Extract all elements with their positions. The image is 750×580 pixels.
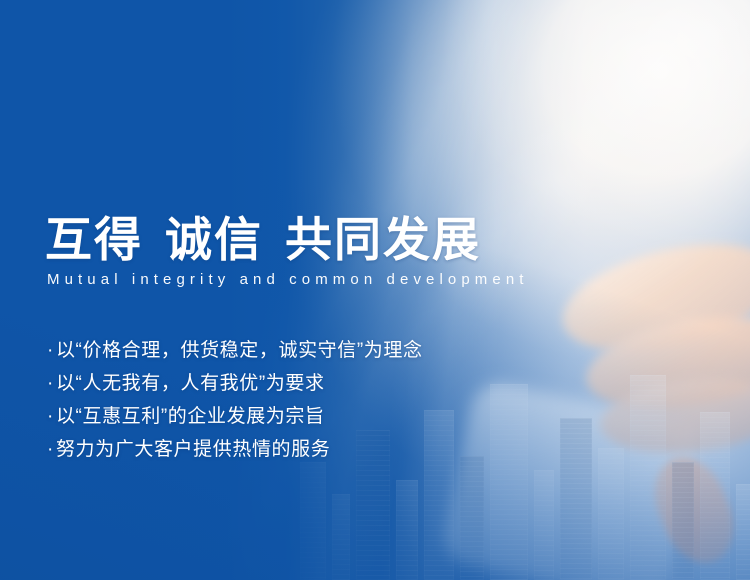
promo-banner: 互得诚信共同发展 Mutual integrity and common dev…	[0, 0, 750, 580]
list-item: ·以“价格合理，供货稳定，诚实守信”为理念	[47, 334, 423, 367]
subheadline: Mutual integrity and common development	[47, 272, 529, 287]
slogan-list: ·以“价格合理，供货稳定，诚实守信”为理念 ·以“人无我有，人有我优”为要求 ·…	[47, 334, 423, 466]
headline-part-2: 诚信	[165, 213, 263, 266]
bullet-dot-icon: ·	[47, 433, 54, 466]
bullet-dot-icon: ·	[47, 334, 54, 367]
bullet-dot-icon: ·	[47, 367, 54, 400]
list-item: ·努力为广大客户提供热情的服务	[47, 433, 423, 466]
list-item: ·以“互惠互利”的企业发展为宗旨	[47, 400, 423, 433]
headline: 互得诚信共同发展	[45, 216, 481, 263]
banner-content: 互得诚信共同发展 Mutual integrity and common dev…	[0, 0, 750, 580]
headline-part-3: 共同发展	[285, 213, 481, 266]
list-item-text: 努力为广大客户提供热情的服务	[56, 439, 330, 460]
list-item-text: 以“互惠互利”的企业发展为宗旨	[56, 406, 325, 427]
list-item: ·以“人无我有，人有我优”为要求	[47, 367, 423, 400]
list-item-text: 以“人无我有，人有我优”为要求	[56, 373, 325, 394]
headline-part-1: 互得	[45, 213, 143, 266]
bullet-dot-icon: ·	[47, 400, 54, 433]
list-item-text: 以“价格合理，供货稳定，诚实守信”为理念	[56, 340, 423, 361]
